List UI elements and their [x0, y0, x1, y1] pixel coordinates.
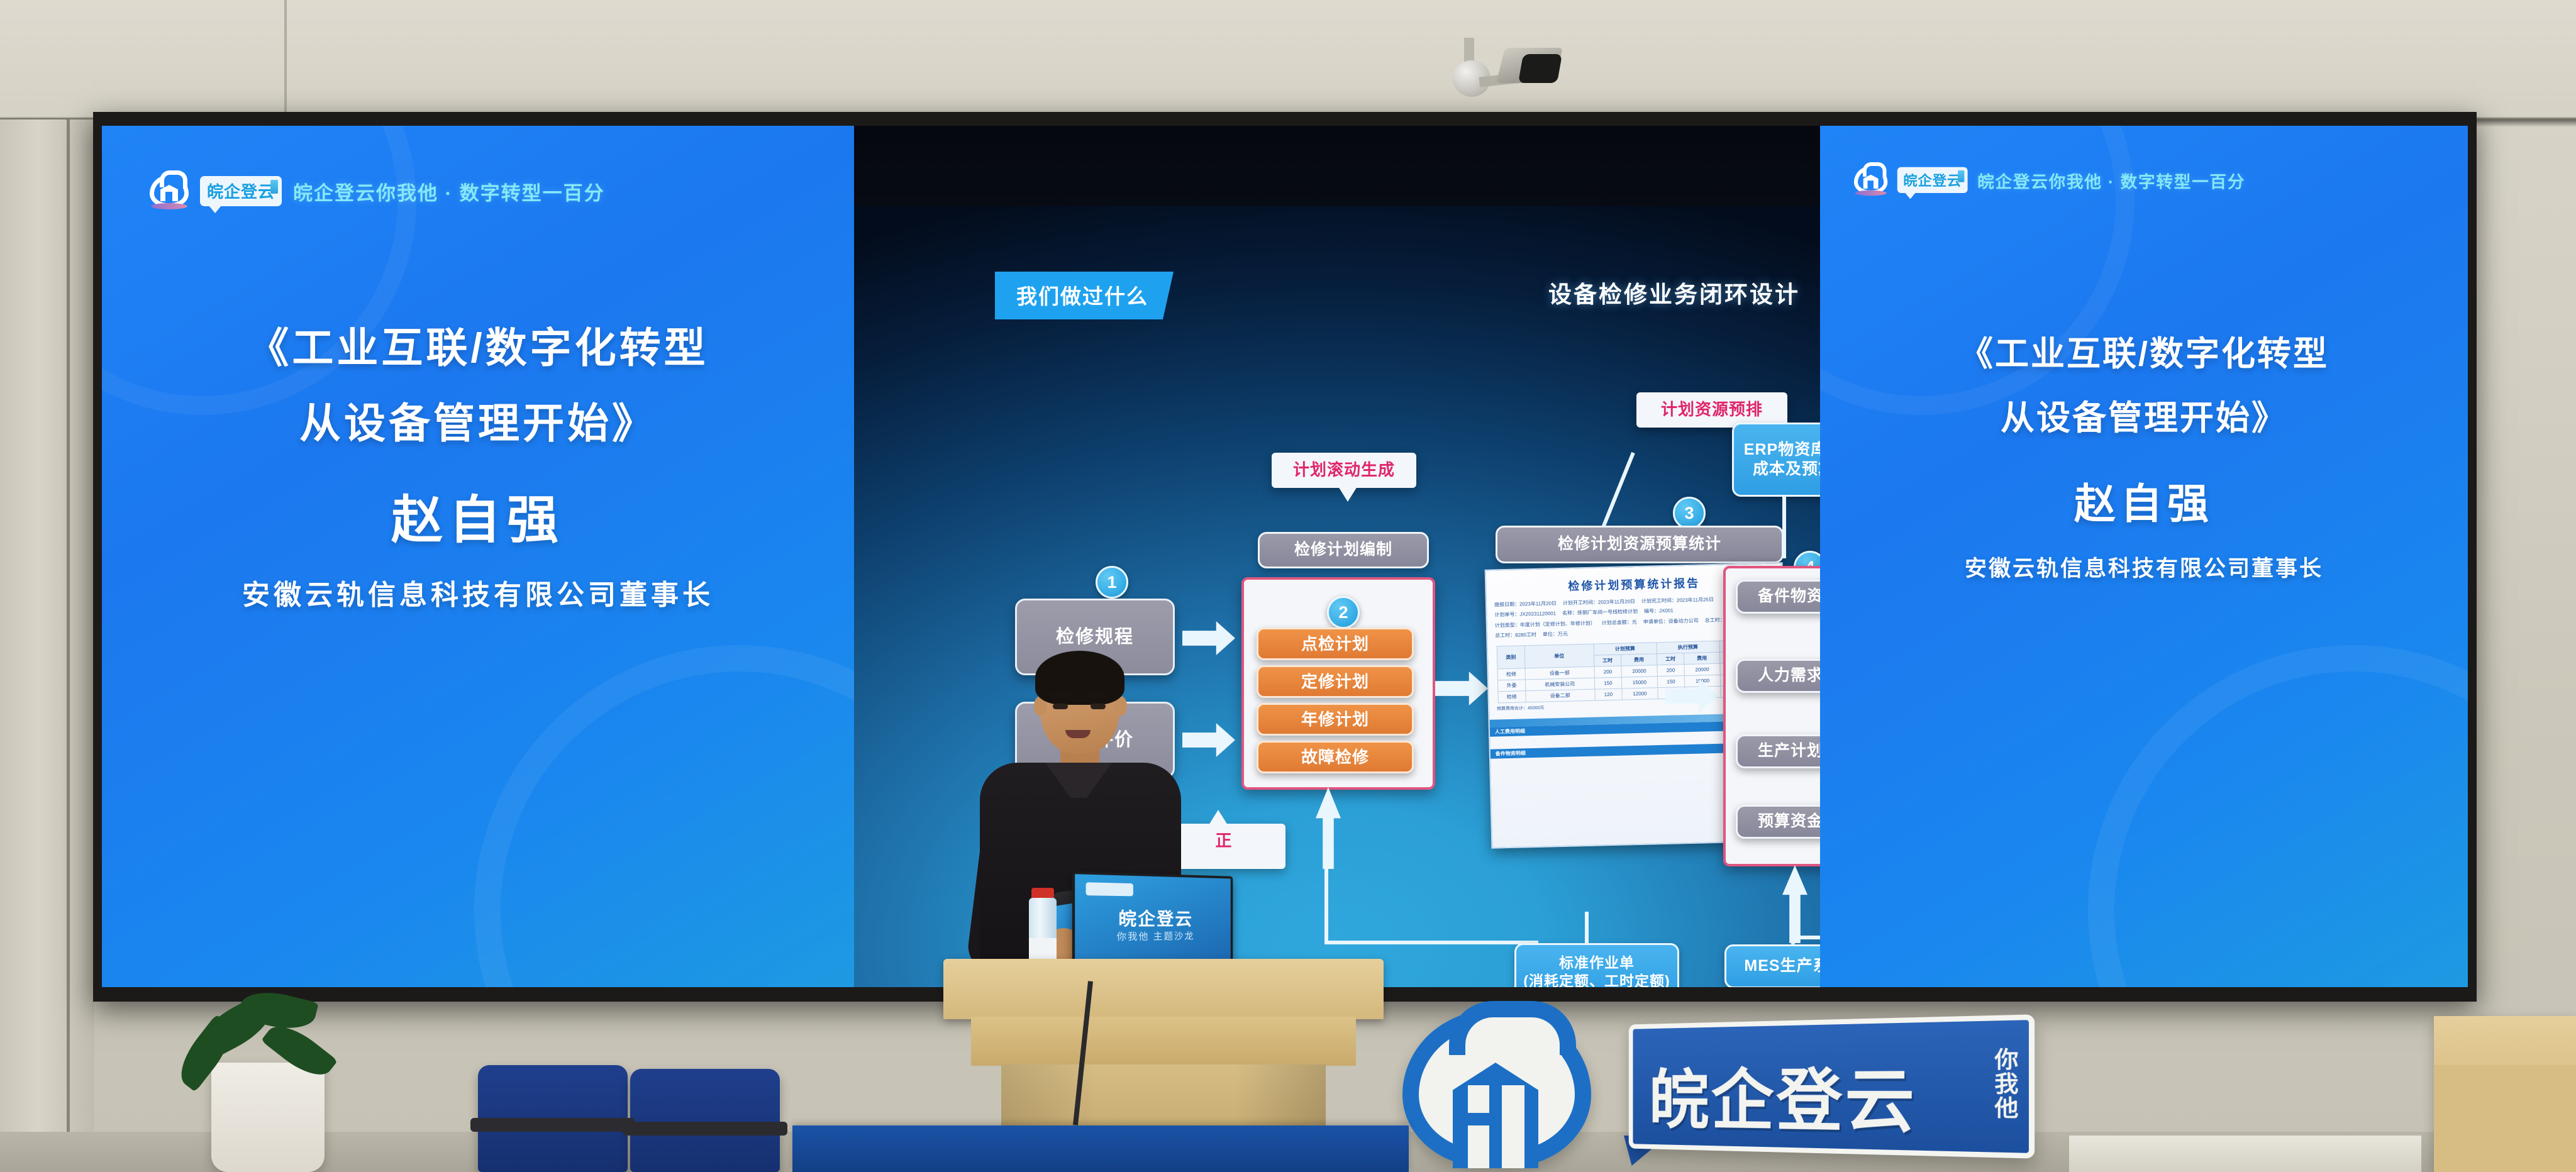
cloud-logo-icon: [150, 175, 189, 207]
led-video-wall: 皖企登云 皖企登云你我他 · 数字转型一百分 《工业互联/数字化转型 从设备管理…: [102, 126, 2468, 987]
laptop-screen-title: 皖企登云: [1075, 905, 1231, 931]
slide-section-tab: 我们做过什么: [995, 272, 1174, 319]
step-badge-1: 1: [1096, 566, 1128, 599]
chair-arm: [623, 1122, 787, 1136]
brand-tag-icon: [270, 180, 278, 194]
brand-row-right: 皖企登云 皖企登云你我他 · 数字转型一百分: [1854, 166, 2245, 194]
callout-plan-rolling: 计划滚动生成: [1272, 453, 1416, 488]
connector-line: [1782, 495, 1786, 558]
wall-pilaster-edge: [67, 119, 70, 1172]
step-badge-2: 2: [1327, 596, 1360, 629]
side-desk-panel: [2069, 1136, 2421, 1172]
side-table-skirt: [2434, 1065, 2576, 1172]
laptop-screen-subtitle: 你我他 主题沙龙: [1075, 929, 1231, 944]
node-fault-repair[interactable]: 故障检修: [1257, 741, 1414, 773]
connector-line: [1324, 941, 1538, 944]
brand-bubble: 皖企登云: [200, 176, 282, 206]
plant-pot: [211, 1063, 325, 1172]
slide-topbar: [854, 126, 1820, 206]
floor-logo-sign: 皖企登云 你我他: [1402, 1006, 2031, 1172]
sign-main-text: 皖企登云: [1649, 1045, 1917, 1147]
brand-slogan: 皖企登云你我他 · 数字转型一百分: [293, 177, 605, 206]
chair-arm: [470, 1118, 635, 1132]
cloud-logo-icon: [1854, 166, 1887, 194]
cloud-logo-icon: [1402, 1010, 1591, 1167]
brand-slogan: 皖企登云你我他 · 数字转型一百分: [1977, 168, 2245, 192]
node-scheduled-repair-plan[interactable]: 定修计划: [1257, 665, 1414, 698]
sign-plate: 皖企登云 你我他: [1629, 1014, 2035, 1158]
brand-logo-text: 皖企登云: [1903, 172, 1962, 189]
right-title-line2: 从设备管理开始》: [1820, 390, 2468, 440]
sign-side-text: 你我他: [1991, 1048, 2016, 1120]
connector-line: [1324, 861, 1328, 944]
wall-grout-line: [284, 0, 287, 119]
right-title-line1: 《工业互联/数字化转型: [1820, 326, 2468, 375]
brand-row-left: 皖企登云 皖企登云你我他 · 数字转型一百分: [150, 175, 605, 207]
wall-pilaster: [0, 119, 94, 1172]
right-title-panel: 皖企登云 皖企登云你我他 · 数字转型一百分 《工业互联/数字化转型 从设备管理…: [1820, 126, 2468, 987]
conference-room-scene: 皖企登云 皖企登云你我他 · 数字转型一百分 《工业互联/数字化转型 从设备管理…: [0, 0, 2576, 1172]
step-badge-3: 3: [1673, 497, 1706, 529]
left-title-line2: 从设备管理开始》: [102, 390, 854, 450]
node-standard-work-order[interactable]: 标准作业单 (消耗定额、工时定额): [1514, 943, 1679, 987]
node-budget-statistics[interactable]: 检修计划资源预算统计: [1496, 526, 1784, 563]
node-plan-compile[interactable]: 检修计划编制: [1258, 532, 1429, 568]
security-camera-icon: [1446, 38, 1560, 107]
front-desk: [792, 1125, 1409, 1172]
left-speaker-role: 安徽云轨信息科技有限公司董事长: [102, 572, 854, 612]
left-title-panel: 皖企登云 皖企登云你我他 · 数字转型一百分 《工业互联/数字化转型 从设备管理…: [102, 126, 854, 987]
laptop-logo-icon: [1086, 882, 1133, 896]
chair: [630, 1069, 780, 1172]
brand-logo-text: 皖企登云: [207, 182, 275, 201]
brand-tag-icon: [1958, 170, 1964, 182]
node-inspection-plan[interactable]: 点检计划: [1257, 627, 1414, 660]
left-title-line1: 《工业互联/数字化转型: [102, 314, 854, 375]
ceiling: [0, 0, 2576, 123]
right-speaker-name: 赵自强: [1820, 470, 2468, 531]
brand-bubble: 皖企登云: [1897, 167, 1968, 193]
left-speaker-name: 赵自强: [102, 478, 854, 553]
right-speaker-role: 安徽云轨信息科技有限公司董事长: [1820, 551, 2468, 583]
connector-line: [1585, 912, 1589, 944]
node-annual-repair-plan[interactable]: 年修计划: [1257, 703, 1414, 736]
